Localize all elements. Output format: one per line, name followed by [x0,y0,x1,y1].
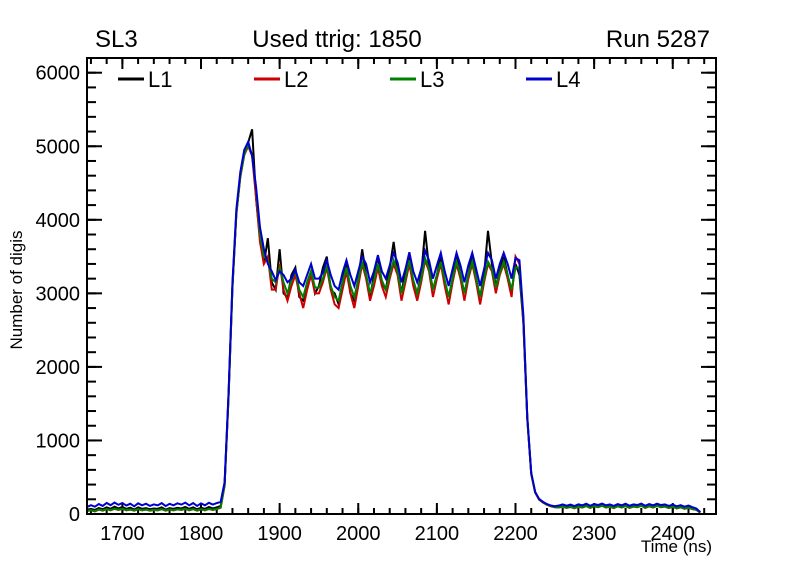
y-tick-label: 4000 [36,210,81,232]
y-tick-label: 0 [69,504,80,526]
y-tick-label: 1000 [36,430,81,452]
x-tick-label: 2200 [493,523,538,545]
x-tick-label: 2300 [572,523,617,545]
y-tick-label: 6000 [36,63,81,85]
legend: L1L2L3L4 [118,67,580,92]
panel-label-superlayer: SL3 [95,26,138,53]
axis-major-ticks [87,58,716,514]
series-line-l4 [87,142,700,512]
series-line-l2 [87,146,700,512]
y-tick-label: 5000 [36,136,81,158]
legend-label-l2: L2 [284,67,308,92]
x-tick-label: 2100 [415,523,460,545]
x-tick-label: 1700 [100,523,145,545]
panel-label-ttrig: Used ttrig: 1850 [252,26,421,53]
x-tick-label: 1900 [257,523,302,545]
x-tick-label: 1800 [179,523,224,545]
legend-label-l1: L1 [148,67,172,92]
series-line-l1 [87,129,700,512]
x-tick-label: 2000 [336,523,381,545]
data-series-group [87,129,700,512]
plot-frame [87,58,716,514]
legend-label-l3: L3 [420,67,444,92]
panel-label-run: Run 5287 [606,26,710,53]
axis-tick-labels: 1700180019002000210022002300240001000200… [36,63,696,545]
legend-label-l4: L4 [556,67,580,92]
root-canvas: SL3 Used ttrig: 1850 Run 5287 Number of … [0,0,796,572]
y-axis-title: Number of digis [7,230,26,349]
series-line-l3 [87,145,700,513]
plot-canvas: SL3 Used ttrig: 1850 Run 5287 Number of … [0,0,796,572]
axis-minor-ticks [87,58,716,514]
x-tick-label: 2400 [651,523,696,545]
y-tick-label: 2000 [36,357,81,379]
y-tick-label: 3000 [36,283,81,305]
